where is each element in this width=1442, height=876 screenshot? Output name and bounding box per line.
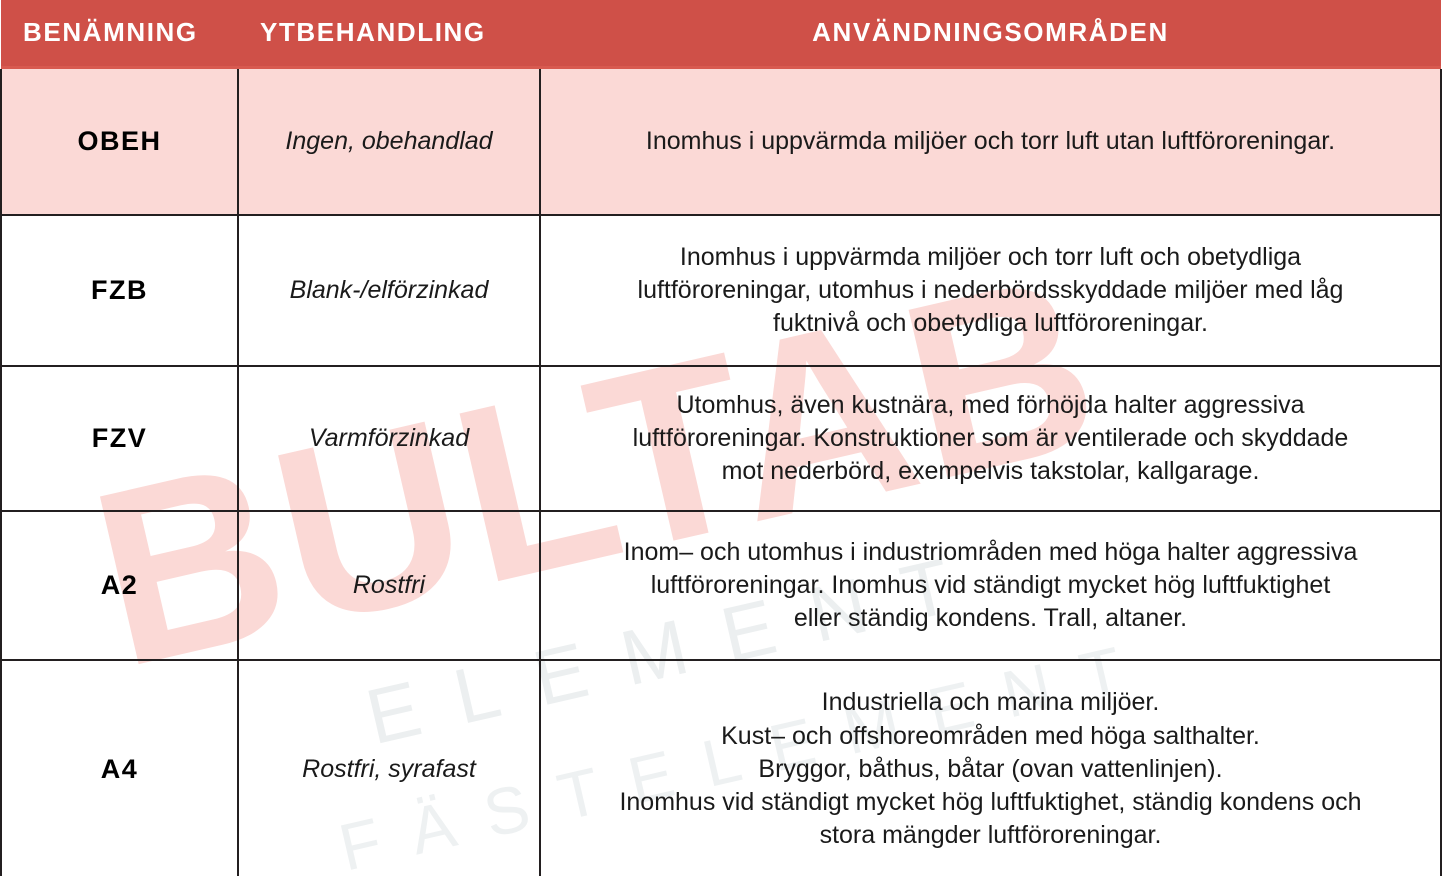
usage-line: Utomhus, även kustnära, med förhöjda hal… [559, 389, 1422, 422]
usage-line: luftföroreningar. Konstruktioner som är … [559, 422, 1422, 455]
column-header-anvandningsomraden: ANVÄNDNINGSOMRÅDEN [540, 0, 1441, 66]
cell-usage: Inomhus i uppvärmda miljöer och torr luf… [540, 69, 1441, 215]
usage-line: stora mängder luftföroreningar. [559, 819, 1422, 852]
usage-line: eller ständig kondens. Trall, altaner. [559, 602, 1422, 635]
cell-treatment: Rostfri [238, 511, 540, 660]
cell-treatment: Ingen, obehandlad [238, 69, 540, 215]
cell-treatment: Varmförzinkad [238, 366, 540, 511]
usage-line: luftföroreningar, utomhus i nederbördssk… [559, 274, 1422, 307]
usage-line: Inomhus vid ständigt mycket hög luftfukt… [559, 786, 1422, 819]
cell-usage: Inom– och utomhus i industriområden med … [540, 511, 1441, 660]
usage-line: fuktnivå och obetydliga luftföroreningar… [559, 307, 1422, 340]
cell-code: OBEH [1, 69, 238, 215]
header-row: BENÄMNING YTBEHANDLING ANVÄNDNINGSOMRÅDE… [1, 0, 1441, 66]
usage-line: mot nederbörd, exempelvis takstolar, kal… [559, 455, 1422, 488]
column-header-ytbehandling: YTBEHANDLING [238, 0, 540, 66]
usage-line: Inom– och utomhus i industriområden med … [559, 536, 1422, 569]
cell-usage: Inomhus i uppvärmda miljöer och torr luf… [540, 215, 1441, 366]
cell-code: A4 [1, 660, 238, 876]
table-row: A2 Rostfri Inom– och utomhus i industrio… [1, 511, 1441, 660]
cell-usage: Utomhus, även kustnära, med förhöjda hal… [540, 366, 1441, 511]
cell-code: FZV [1, 366, 238, 511]
usage-line: Bryggor, båthus, båtar (ovan vattenlinje… [559, 753, 1422, 786]
table-body: OBEH Ingen, obehandlad Inomhus i uppvärm… [1, 69, 1441, 876]
table-row: FZV Varmförzinkad Utomhus, även kustnära… [1, 366, 1441, 511]
usage-line: Industriella och marina miljöer. [559, 686, 1422, 719]
surface-treatment-table: BULTAB ELEMENT FÄSTELEMENT BENÄMNING YTB… [0, 0, 1442, 876]
cell-code: FZB [1, 215, 238, 366]
cell-code: A2 [1, 511, 238, 660]
usage-line: Inomhus i uppvärmda miljöer och torr luf… [559, 125, 1422, 158]
cell-treatment: Blank-/elförzinkad [238, 215, 540, 366]
usage-line: Kust– och offshoreområden med höga salth… [559, 720, 1422, 753]
table-row: OBEH Ingen, obehandlad Inomhus i uppvärm… [1, 69, 1441, 215]
treatment-grid: BENÄMNING YTBEHANDLING ANVÄNDNINGSOMRÅDE… [0, 0, 1442, 876]
cell-treatment: Rostfri, syrafast [238, 660, 540, 876]
column-header-benamning: BENÄMNING [1, 0, 238, 66]
table-row: FZB Blank-/elförzinkad Inomhus i uppvärm… [1, 215, 1441, 366]
table-row: A4 Rostfri, syrafast Industriella och ma… [1, 660, 1441, 876]
usage-line: Inomhus i uppvärmda miljöer och torr luf… [559, 241, 1422, 274]
table-header: BENÄMNING YTBEHANDLING ANVÄNDNINGSOMRÅDE… [1, 0, 1441, 69]
cell-usage: Industriella och marina miljöer. Kust– o… [540, 660, 1441, 876]
usage-line: luftföroreningar. Inomhus vid ständigt m… [559, 569, 1422, 602]
